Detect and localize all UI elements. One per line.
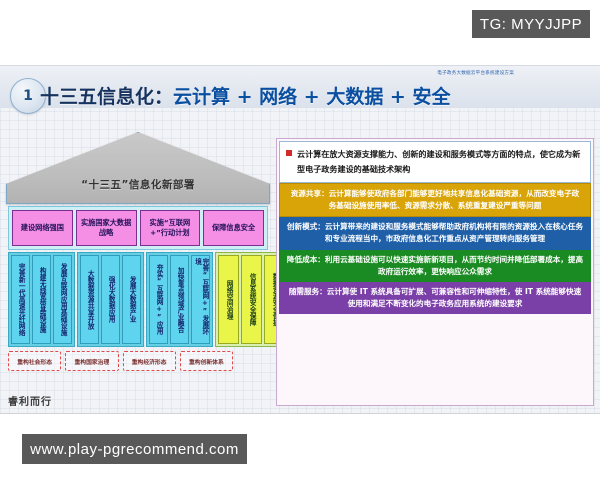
pillar-box: 建设网络强国 xyxy=(12,210,73,246)
benefit-band-innovation-model: 创新模式：云计算带来的建设和服务模式能够帮助政府机构将有限的资源投入在核心任务和… xyxy=(279,217,591,249)
detail-column: 强化大数据应用 xyxy=(101,255,120,344)
pillar-box: 实施国家大数据战略 xyxy=(76,210,137,246)
benefit-text: 云计算带来的建设和服务模式能够帮助政府机构将有限的资源投入在核心任务和专业流程当… xyxy=(325,222,583,243)
pillar-box: 保障信息安全 xyxy=(203,210,264,246)
benefit-key: 随需服务： xyxy=(289,287,327,296)
column-group-internet-plus: 夯实“互联网+”应用 加快重点领域产业融合 完善“互联网+”发展环境 xyxy=(146,252,213,347)
detail-column: 加快重点领域产业融合 xyxy=(170,255,189,344)
column-group-network: 完善新一代高速光纤网络 构建无线宽带基础设施 发展互联网应用基础设施 xyxy=(8,252,75,347)
presentation-slide: 电子政务大数据云平台系统建设方案 1 十三五信息化：云计算 + 网络 + 大数据… xyxy=(0,65,600,414)
site-url-watermark-chip: www.play-pgrecommend.com xyxy=(22,434,247,464)
pillar-row: 建设网络强国 实施国家大数据战略 实施“互联网+”行动计划 保障信息安全 xyxy=(8,206,268,250)
benefit-band-resource-sharing: 资源共享：云计算能够使政府各部门能够更好地共享信息化基础资源，从而改变电子政务基… xyxy=(279,183,591,217)
benefit-key: 降低成本： xyxy=(287,255,325,264)
panel-lead-statement: 云计算在放大资源支撑能力、创新的建设和服务模式等方面的特点，使它成为新型电子政务… xyxy=(279,141,591,183)
detail-column: 信息系统安全保障 xyxy=(241,255,262,344)
slide-corner-note: 电子政务大数据云平台系统建设方案 xyxy=(437,70,514,76)
detail-column: 夯实“互联网+”应用 xyxy=(149,255,168,344)
square-bullet-icon xyxy=(286,150,292,156)
slide-header-band: 电子政务大数据云平台系统建设方案 1 十三五信息化：云计算 + 网络 + 大数据… xyxy=(0,66,600,108)
slide-number-badge-label: 1 xyxy=(23,88,33,104)
detail-column: 网络空间治理 xyxy=(218,255,239,344)
page-title-prefix: 十三五信息化： xyxy=(40,86,173,108)
pyramid-roof-label: “十三五”信息化新部署 xyxy=(6,177,270,192)
benefit-key: 创新模式： xyxy=(287,222,325,231)
panel-lead-text: 云计算在放大资源支撑能力、创新的建设和服务模式等方面的特点，使它成为新型电子政务… xyxy=(297,147,584,177)
benefit-band-on-demand-service: 随需服务：云计算使 IT 系统具备可扩展、可兼容性和可伸缩特性，使 IT 系统能… xyxy=(279,282,591,314)
outcome-box: 重构创新体系 xyxy=(180,351,233,371)
slide-footer-brand: 睿利而行 xyxy=(8,393,52,408)
site-url-watermark-text: www.play-pgrecommend.com xyxy=(30,441,239,458)
pillar-box: 实施“互联网+”行动计划 xyxy=(140,210,201,246)
detail-column: 构建无线宽带基础设施 xyxy=(32,255,51,344)
benefit-text: 利用云基础设施可以快速实施新新项目，从而节约时间并降低部署成本，提高政府运行效率… xyxy=(325,255,583,276)
benefit-text: 云计算使 IT 系统具备可扩展、可兼容性和可伸缩特性，使 IT 系统能够快速使用… xyxy=(327,287,581,308)
outcome-box: 重构经济形态 xyxy=(123,351,176,371)
detail-column-groups: 完善新一代高速光纤网络 构建无线宽带基础设施 发展互联网应用基础设施 大数据资源… xyxy=(8,252,268,347)
page-title-rest: 云计算 + 网络 + 大数据 + 安全 xyxy=(173,86,450,108)
telegram-watermark-text: TG: MYYJJPP xyxy=(480,16,582,33)
pyramid-roof-outline xyxy=(6,132,270,204)
benefit-key: 资源共享： xyxy=(291,189,329,198)
detail-column: 发展大数据产业 xyxy=(122,255,141,344)
outcome-row: 重构社会形态 重构国家治理 重构经济形态 重构创新体系 xyxy=(8,351,233,371)
pyramid-roof: “十三五”信息化新部署 xyxy=(6,132,270,204)
page-title: 十三五信息化：云计算 + 网络 + 大数据 + 安全 xyxy=(40,82,450,109)
detail-column: 发展互联网应用基础设施 xyxy=(53,255,72,344)
pyramid-diagram: “十三五”信息化新部署 建设网络强国 实施国家大数据战略 实施“互联网+”行动计… xyxy=(6,132,270,407)
benefit-band-cost-reduction: 降低成本：利用云基础设施可以快速实施新新项目，从而节约时间并降低部署成本，提高政… xyxy=(279,250,591,282)
detail-column: 完善“互联网+”发展环境 xyxy=(191,255,210,344)
column-group-bigdata: 大数据资源共享开放 强化大数据应用 发展大数据产业 xyxy=(77,252,144,347)
cloud-benefits-panel: 云计算在放大资源支撑能力、创新的建设和服务模式等方面的特点，使它成为新型电子政务… xyxy=(276,138,594,406)
outcome-box: 重构国家治理 xyxy=(65,351,118,371)
outcome-box: 重构社会形态 xyxy=(8,351,61,371)
telegram-watermark-chip: TG: MYYJJPP xyxy=(472,10,590,38)
detail-column: 大数据资源共享开放 xyxy=(80,255,99,344)
detail-column: 完善新一代高速光纤网络 xyxy=(11,255,30,344)
benefit-text: 云计算能够使政府各部门能够更好地共享信息化基础资源，从而改变电子政务基础设施使用… xyxy=(329,189,580,210)
